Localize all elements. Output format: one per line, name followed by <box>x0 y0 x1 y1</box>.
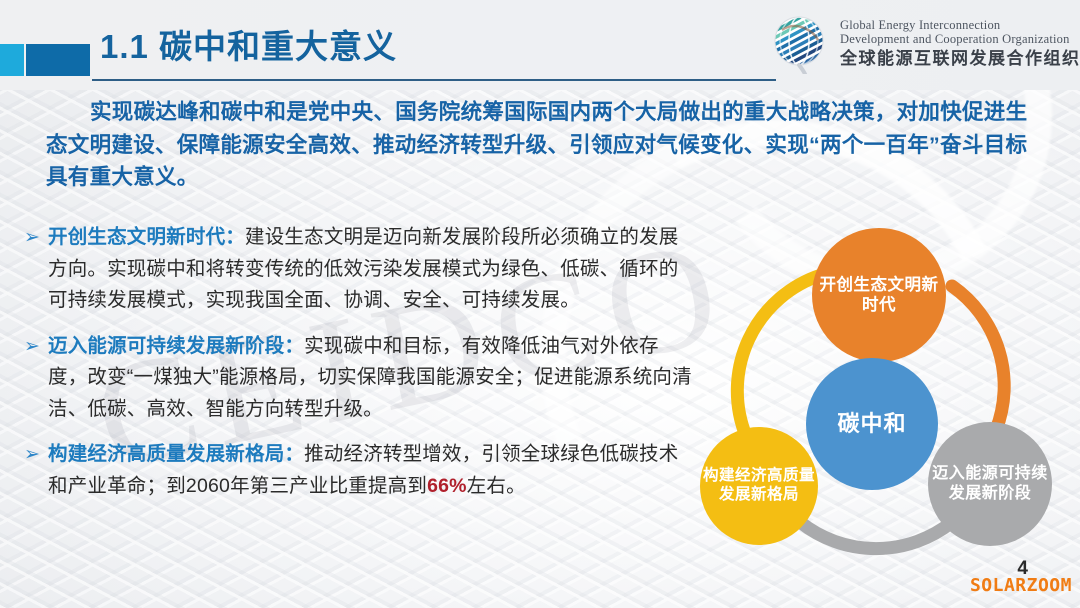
title-divider <box>92 79 776 81</box>
bullet-arrow-icon: ➢ <box>24 331 48 363</box>
bullet-body-text-part2: 左右。 <box>467 475 526 497</box>
bullet-text: 开创生态文明新时代：建设生态文明是迈向新发展阶段所必须确立的发展方向。实现碳中和… <box>48 222 696 317</box>
logo-cn-line: 全球能源互联网发展合作组织 <box>840 49 1080 68</box>
arc-orange <box>952 286 1004 430</box>
watermark-label: SOLARZOOM <box>970 575 1072 596</box>
bullet-heading: 开创生态文明新时代： <box>48 226 245 248</box>
title-accent-square-blue <box>26 44 90 76</box>
diagram-node-right[interactable]: 迈入能源可持续发展新阶段 <box>928 422 1052 546</box>
globe-logo-icon <box>768 12 830 74</box>
bullet-text: 构建经济高质量发展新格局：推动经济转型增效，引领全球绿色低碳技术和产业革命；到2… <box>48 439 696 502</box>
title-accent-square-cyan <box>0 44 24 76</box>
bullet-heading: 构建经济高质量发展新格局： <box>48 443 304 465</box>
bullet-arrow-icon: ➢ <box>24 439 48 471</box>
diagram-node-top[interactable]: 开创生态文明新时代 <box>812 228 946 362</box>
list-item: ➢ 构建经济高质量发展新格局：推动经济转型增效，引领全球绿色低碳技术和产业革命；… <box>24 439 696 502</box>
bullet-highlight-value: 66% <box>427 475 467 497</box>
slide-canvas: CEIDCO 1.1 碳中和重大意义 <box>0 0 1080 608</box>
page-title: 1.1 碳中和重大意义 <box>100 20 397 68</box>
bullet-arrow-icon: ➢ <box>24 222 48 254</box>
logo-en-line1: Global Energy Interconnection <box>840 18 1080 32</box>
logo-en-line2: Development and Cooperation Organization <box>840 32 1080 46</box>
organization-logo: Global Energy Interconnection Developmen… <box>768 12 1080 74</box>
list-item: ➢ 迈入能源可持续发展新阶段：实现碳中和目标，有效降低油气对外依存度，改变“一煤… <box>24 331 696 426</box>
venn-cycle-diagram: 开创生态文明新时代 构建经济高质量发展新格局 迈入能源可持续发展新阶段 碳中和 <box>690 222 1074 562</box>
diagram-node-center[interactable]: 碳中和 <box>806 358 938 490</box>
arc-gray <box>800 522 952 549</box>
bullet-list: ➢ 开创生态文明新时代：建设生态文明是迈向新发展阶段所必须确立的发展方向。实现碳… <box>24 222 696 517</box>
bullet-text: 迈入能源可持续发展新阶段：实现碳中和目标，有效降低油气对外依存度，改变“一煤独大… <box>48 331 696 426</box>
diagram-node-left[interactable]: 构建经济高质量发展新格局 <box>700 427 818 545</box>
lead-paragraph: 实现碳达峰和碳中和是党中央、国务院统筹国际国内两个大局做出的重大战略决策，对加快… <box>46 96 1046 194</box>
list-item: ➢ 开创生态文明新时代：建设生态文明是迈向新发展阶段所必须确立的发展方向。实现碳… <box>24 222 696 317</box>
logo-text-block: Global Energy Interconnection Developmen… <box>840 18 1080 68</box>
bullet-heading: 迈入能源可持续发展新阶段： <box>48 335 304 357</box>
